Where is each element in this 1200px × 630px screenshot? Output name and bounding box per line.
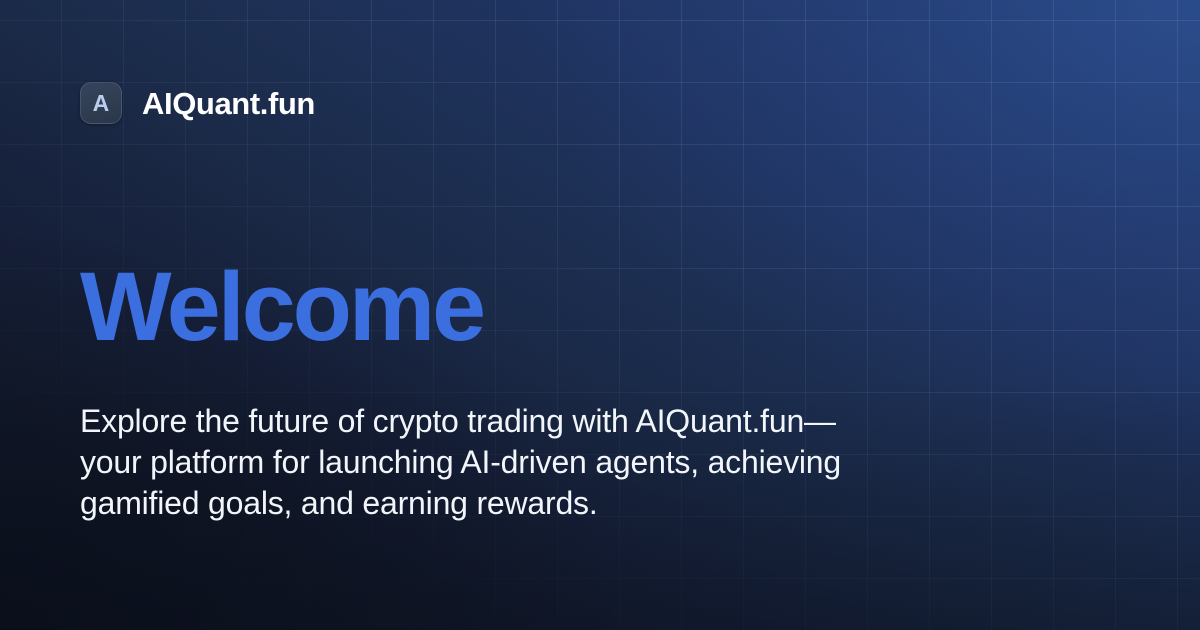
card-content: A AIQuant.fun Welcome Explore the future… [0, 0, 1200, 630]
hero-section: Welcome Explore the future of crypto tra… [80, 258, 940, 524]
brand-badge-letter: A [93, 92, 110, 115]
page-title: Welcome [80, 258, 940, 355]
brand-name: AIQuant.fun [142, 88, 315, 119]
hero-description: Explore the future of crypto trading wit… [80, 401, 880, 524]
og-card-canvas: A AIQuant.fun Welcome Explore the future… [0, 0, 1200, 630]
brand-lockup: A AIQuant.fun [80, 82, 315, 124]
app-logo-icon: A [80, 82, 122, 124]
